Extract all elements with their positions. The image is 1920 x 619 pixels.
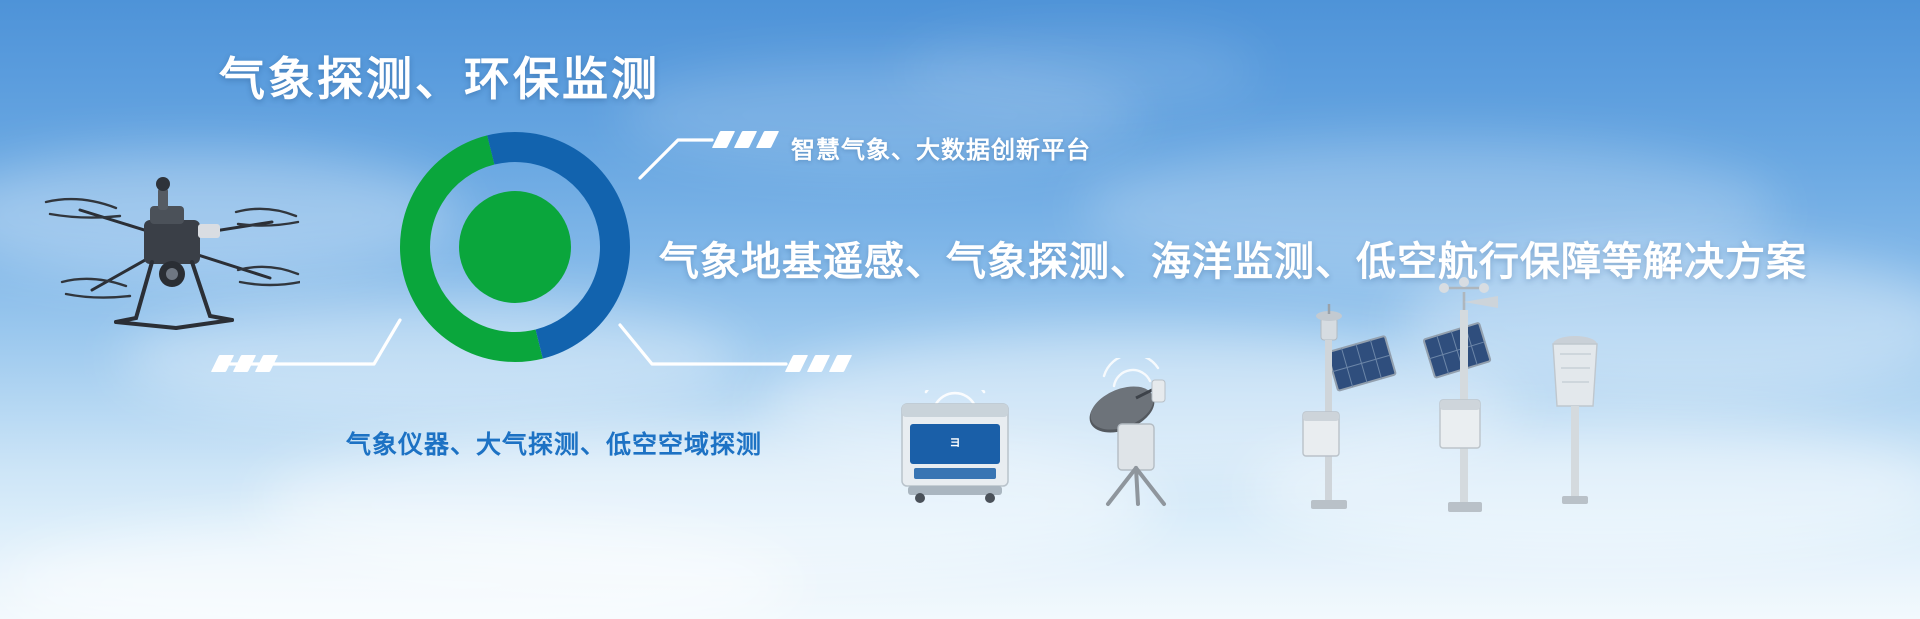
label-solutions: 气象地基遥感、气象探测、海洋监测、低空航行保障等解决方案 xyxy=(659,229,1807,287)
slash-marks-bottom-right xyxy=(789,355,848,372)
slash-marks-bottom-left xyxy=(215,355,274,372)
slash-marks-top xyxy=(716,131,775,148)
label-smart-meteorology: 智慧气象、大数据创新平台 xyxy=(791,130,1091,165)
svg-text:ヨ: ヨ xyxy=(950,436,961,449)
rain-gauge-image xyxy=(1530,320,1620,510)
banner-root: 气象探测、环保监测 智慧气象、大数据创新平台 气象地基遥感、气象探测、海洋监测、… xyxy=(0,0,1920,619)
label-instruments: 气象仪器、大气探测、低空空域探测 xyxy=(346,425,762,461)
instrument-cabinet-image: ヨ xyxy=(890,390,1020,505)
drone-image xyxy=(40,150,300,350)
solar-panel-station-image xyxy=(1285,300,1405,515)
donut-ring-gaps xyxy=(393,131,637,363)
weather-sensor-mast-image xyxy=(1400,276,1530,516)
page-title: 气象探测、环保监测 xyxy=(219,52,660,107)
satellite-dish-image xyxy=(1070,358,1200,508)
